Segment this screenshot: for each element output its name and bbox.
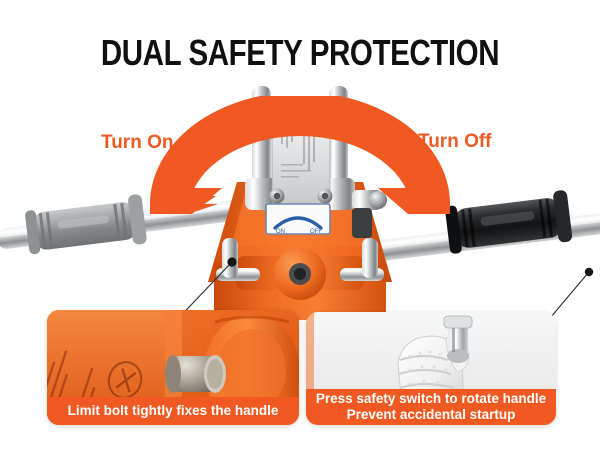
right-handle-grip — [444, 190, 572, 257]
caption-left: Limit bolt tightly fixes the handle — [47, 397, 299, 425]
turn-on-label: Turn On — [101, 132, 173, 154]
infographic-canvas: DUAL SAFETY PROTECTION — [0, 0, 600, 450]
limit-bolt — [165, 355, 226, 393]
arrowhead-left-icon — [162, 188, 222, 214]
inset-card-safety-switch[interactable]: Press safety switch to rotate handle Pre… — [306, 312, 556, 425]
left-handle-grip — [24, 194, 147, 258]
turn-off-label: Turn Off — [418, 131, 492, 153]
arrowhead-right-icon — [378, 188, 438, 214]
safety-switch — [444, 316, 472, 363]
caption-right: Press safety switch to rotate handle Pre… — [306, 389, 556, 425]
caption-right-line-1: Press safety switch to rotate handle — [306, 391, 556, 407]
page-title: DUAL SAFETY PROTECTION — [54, 32, 546, 74]
caption-right-line-2: Prevent accidental startup — [306, 407, 556, 423]
gauge-off-text: OFF — [310, 229, 322, 235]
gauge-on-text: ON — [276, 229, 285, 235]
caption-left-line-1: Limit bolt tightly fixes the handle — [47, 397, 299, 425]
inset-card-limit-bolt[interactable]: Limit bolt tightly fixes the handle — [47, 310, 299, 425]
rotation-arrowheads — [150, 96, 450, 214]
